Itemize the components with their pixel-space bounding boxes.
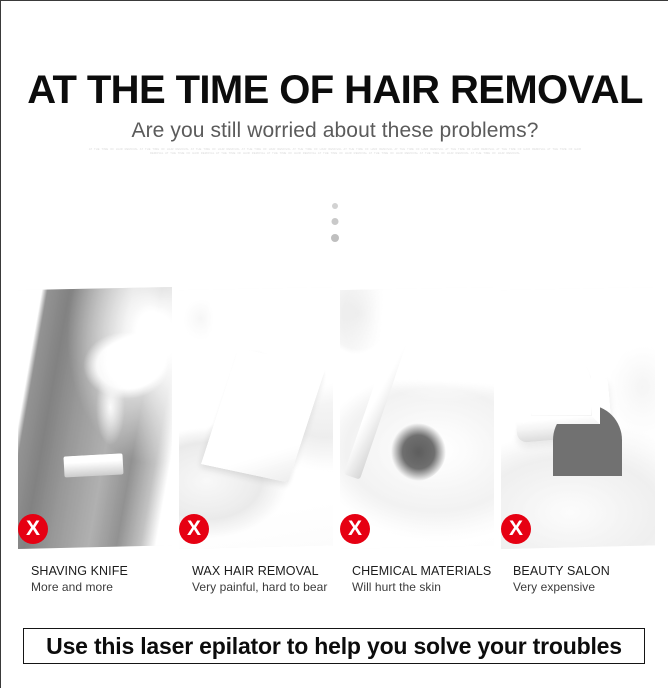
photo-shaving-knife: [18, 287, 172, 549]
page-subtitle: Are you still worried about these proble…: [1, 118, 668, 144]
problem-image-chemical-materials: [340, 287, 494, 549]
product-infographic: AT THE TIME OF HAIR REMOVAL Are you stil…: [0, 0, 668, 688]
decorative-micro-text: AT THE TIME OF HAIR REMOVAL AT THE TIME …: [85, 148, 585, 163]
caption-subtitle: Will hurt the skin: [352, 579, 522, 595]
solution-banner-text: Use this laser epilator to help you solv…: [24, 629, 644, 663]
page-title: AT THE TIME OF HAIR REMOVAL: [1, 67, 668, 113]
caption-wax-hair-removal: WAX HAIR REMOVAL Very painful, hard to b…: [192, 563, 362, 595]
dot-divider: [327, 201, 343, 249]
problem-image-wax-hair-removal: [179, 287, 333, 549]
caption-subtitle: Very expensive: [513, 579, 668, 595]
caption-beauty-salon: BEAUTY SALON Very expensive: [513, 563, 668, 595]
problem-image-shaving-knife: [18, 287, 172, 549]
caption-chemical-materials: CHEMICAL MATERIALS Will hurt the skin: [352, 563, 522, 595]
caption-title: WAX HAIR REMOVAL: [192, 563, 362, 579]
cross-mark-icon: X: [18, 514, 48, 544]
divider-dot-icon: [331, 234, 339, 242]
solution-banner: Use this laser epilator to help you solv…: [23, 628, 645, 664]
divider-dot-icon: [332, 203, 338, 209]
caption-title: SHAVING KNIFE: [31, 563, 201, 579]
photo-beauty-salon: [501, 287, 655, 549]
photo-wax-hair-removal: [179, 287, 333, 549]
cross-mark-icon: X: [501, 514, 531, 544]
caption-title: CHEMICAL MATERIALS: [352, 563, 522, 579]
caption-shaving-knife: SHAVING KNIFE More and more: [31, 563, 201, 595]
caption-subtitle: Very painful, hard to bear: [192, 579, 362, 595]
divider-dot-icon: [332, 218, 339, 225]
cross-mark-icon: X: [179, 514, 209, 544]
cross-mark-icon: X: [340, 514, 370, 544]
problem-image-beauty-salon: [501, 287, 655, 549]
caption-title: BEAUTY SALON: [513, 563, 668, 579]
photo-chemical-materials: [340, 287, 494, 549]
problem-panel-row: [1, 287, 668, 553]
caption-subtitle: More and more: [31, 579, 201, 595]
